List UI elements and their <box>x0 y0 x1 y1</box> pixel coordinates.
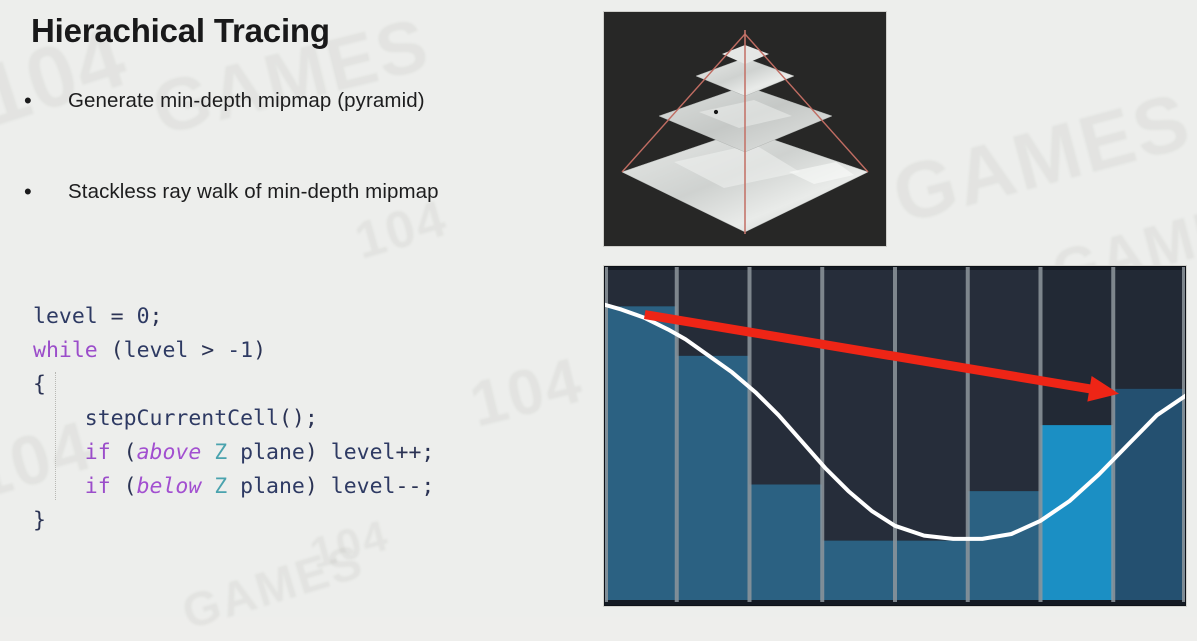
bullet-list: • Generate min-depth mipmap (pyramid) • … <box>24 88 569 270</box>
watermark: GAMES <box>176 534 370 641</box>
list-item: • Stackless ray walk of min-depth mipmap <box>24 179 569 205</box>
depth-chart-svg <box>604 266 1186 606</box>
list-item: • Generate min-depth mipmap (pyramid) <box>24 88 569 114</box>
chart-bar <box>677 356 750 600</box>
chart-cell-empty <box>604 270 677 306</box>
chart-cell-empty <box>1113 270 1186 389</box>
code-block: level = 0; while (level > -1) { stepCurr… <box>33 300 434 538</box>
chart-bar <box>604 306 677 600</box>
chart-bar <box>750 485 823 601</box>
watermark: GAMES <box>883 74 1197 241</box>
pyramid-figure <box>604 12 886 246</box>
watermark: 104 <box>463 342 590 441</box>
depth-chart-figure <box>604 266 1186 606</box>
chart-bar <box>895 541 968 600</box>
pyramid-svg <box>604 12 886 246</box>
chart-cell-empty <box>895 270 968 541</box>
list-item-label: Stackless ray walk of min-depth mipmap <box>68 179 439 205</box>
bullet-marker-icon: • <box>24 179 38 205</box>
slide-canvas: 104 GAMES 104 104 GAMES 104 GAMES GAMES … <box>0 0 1197 617</box>
bullet-marker-icon: • <box>24 88 38 114</box>
page-title: Hierachical Tracing <box>31 12 330 50</box>
chart-bar <box>968 491 1041 600</box>
chart-bar <box>822 541 895 600</box>
list-item-label: Generate min-depth mipmap (pyramid) <box>68 88 425 114</box>
chart-cell-empty <box>1041 270 1114 425</box>
